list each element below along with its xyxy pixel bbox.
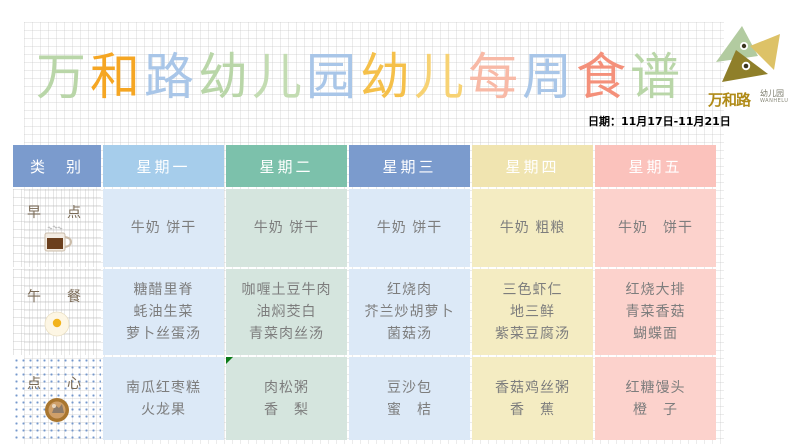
menu-item: 香 梨 [226,399,347,421]
menu-item: 橙 子 [595,399,716,421]
title-char-4: 儿 [252,46,306,108]
menu-item: 油焖茭白 [226,301,347,323]
menu-item: 红烧肉 [349,279,470,301]
title-char-8: 每 [468,46,522,108]
category-label: 点 心 [27,373,87,393]
menu-header-cell-1: 星期一 [103,145,224,187]
menu-item: 牛奶 饼干 [595,217,716,239]
title-char-1: 和 [90,46,144,108]
menu-item: 咖喱土豆牛肉 [226,279,347,301]
title-char-3: 幼 [198,46,252,108]
title-char-5: 园 [306,46,360,108]
menu-header-cell-4: 星期四 [472,145,593,187]
menu-item: 豆沙包 [349,377,470,399]
menu-item: 菌菇汤 [349,323,470,345]
title-char-2: 路 [144,46,198,108]
menu-item: 牛奶 饼干 [103,217,224,239]
menu-item: 牛奶 饼干 [349,217,470,239]
category-label: 早 点 [27,202,87,222]
menu-header-cell-2: 星期二 [226,145,347,187]
menu-cell-r1-c4: 红烧大排青菜香菇蝴蝶面 [595,269,716,355]
fried-egg-icon [40,308,74,338]
pastry-icon [40,395,74,425]
menu-item: 红糖馒头 [595,377,716,399]
menu-cell-r0-c1: 牛奶 饼干 [226,189,347,267]
menu-cell-r1-c2: 红烧肉芥兰炒胡萝卜菌菇汤 [349,269,470,355]
title-char-10: 食 [576,46,630,108]
menu-item: 火龙果 [103,399,224,421]
menu-header-cell-0: 类 别 [13,145,101,187]
menu-row-2: 点 心南瓜红枣糕火龙果肉松粥香 梨豆沙包蜜 桔香菇鸡丝粥香 蕉红糖馒头橙 子 [13,357,716,440]
menu-category-cell-1: 午 餐 [13,269,101,355]
menu-item: 牛奶 饼干 [226,217,347,239]
page-title: 万和路幼儿园幼儿每周食谱 [36,46,684,108]
menu-cell-r1-c1: 咖喱土豆牛肉油焖茭白青菜肉丝汤 [226,269,347,355]
weekly-menu-table: 类 别星期一星期二星期三星期四星期五 早 点牛奶 饼干牛奶 饼干牛奶 饼干牛奶 … [11,143,718,442]
menu-cell-r2-c3: 香菇鸡丝粥香 蕉 [472,357,593,440]
menu-header-cell-5: 星期五 [595,145,716,187]
menu-table-head: 类 别星期一星期二星期三星期四星期五 [13,145,716,187]
comment-corner-marker [226,357,233,364]
menu-cell-r1-c3: 三色虾仁地三鲜紫菜豆腐汤 [472,269,593,355]
menu-item: 三色虾仁 [472,279,593,301]
menu-cell-r0-c2: 牛奶 饼干 [349,189,470,267]
category-label: 午 餐 [27,286,87,306]
menu-item: 蝴蝶面 [595,323,716,345]
menu-cell-r0-c0: 牛奶 饼干 [103,189,224,267]
category-content: 早 点 [13,202,101,254]
category-content: 午 餐 [13,286,101,338]
title-char-7: 儿 [414,46,468,108]
menu-item: 香 蕉 [472,399,593,421]
category-content: 点 心 [13,373,101,425]
menu-item: 蚝油生菜 [103,301,224,323]
menu-cell-r0-c4: 牛奶 饼干 [595,189,716,267]
menu-item: 芥兰炒胡萝卜 [349,301,470,323]
menu-table-body: 早 点牛奶 饼干牛奶 饼干牛奶 饼干牛奶 粗粮牛奶 饼干午 餐糖醋里脊蚝油生菜萝… [13,189,716,440]
title-char-0: 万 [36,46,90,108]
menu-item: 香菇鸡丝粥 [472,377,593,399]
logo-star-icon [712,26,784,88]
menu-item: 牛奶 粗粮 [472,217,593,239]
menu-category-cell-2: 点 心 [13,357,101,440]
title-char-11: 谱 [630,46,684,108]
menu-item: 南瓜红枣糕 [103,377,224,399]
menu-cell-r1-c0: 糖醋里脊蚝油生菜萝卜丝蛋汤 [103,269,224,355]
menu-row-1: 午 餐糖醋里脊蚝油生菜萝卜丝蛋汤咖喱土豆牛肉油焖茭白青菜肉丝汤红烧肉芥兰炒胡萝卜… [13,269,716,355]
menu-item: 肉松粥 [226,377,347,399]
menu-item: 蜜 桔 [349,399,470,421]
menu-header-cell-3: 星期三 [349,145,470,187]
page-header: 万和路幼儿园幼儿每周食谱 万和路 幼儿园 WANHELU 日期：11月17日-1… [0,0,794,140]
coffee-mug-icon [40,224,74,254]
logo-sub-en: WANHELU [760,98,788,104]
menu-item: 青菜肉丝汤 [226,323,347,345]
menu-item: 红烧大排 [595,279,716,301]
menu-cell-r2-c0: 南瓜红枣糕火龙果 [103,357,224,440]
menu-item: 萝卜丝蛋汤 [103,323,224,345]
title-char-6: 幼 [360,46,414,108]
logo-wordmark: 万和路 幼儿园 WANHELU [706,86,790,112]
menu-header-row: 类 别星期一星期二星期三星期四星期五 [13,145,716,187]
title-char-9: 周 [522,46,576,108]
kindergarten-logo: 万和路 幼儿园 WANHELU [706,26,790,114]
date-range-label: 日期：11月17日-11月21日 [588,113,731,129]
menu-item: 糖醋里脊 [103,279,224,301]
menu-item: 地三鲜 [472,301,593,323]
logo-name-cn: 万和路 [708,89,750,110]
menu-category-cell-0: 早 点 [13,189,101,267]
menu-cell-r2-c2: 豆沙包蜜 桔 [349,357,470,440]
menu-item: 青菜香菇 [595,301,716,323]
menu-cell-r2-c4: 红糖馒头橙 子 [595,357,716,440]
menu-cell-r0-c3: 牛奶 粗粮 [472,189,593,267]
menu-row-0: 早 点牛奶 饼干牛奶 饼干牛奶 饼干牛奶 粗粮牛奶 饼干 [13,189,716,267]
menu-item: 紫菜豆腐汤 [472,323,593,345]
menu-cell-r2-c1: 肉松粥香 梨 [226,357,347,440]
